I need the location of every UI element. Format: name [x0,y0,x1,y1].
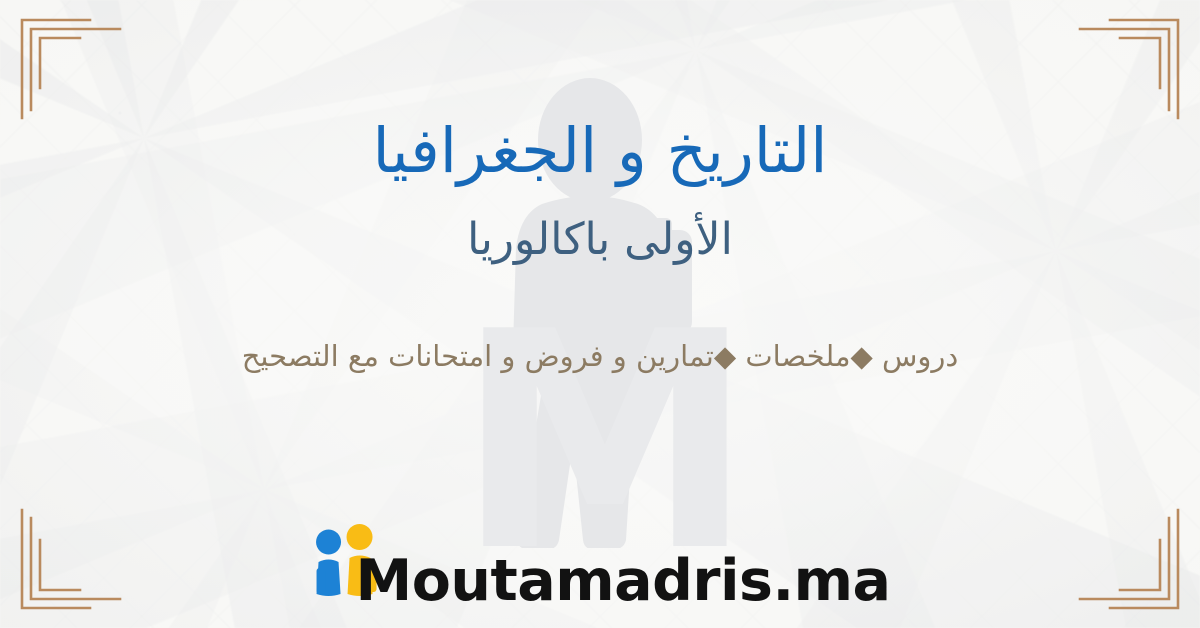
poster-canvas: M [0,0,1200,628]
logo-brand-text: Moutamadris.ma [356,553,891,610]
page-subtitle: الأولى باكالوريا [467,185,733,266]
features-line: دروس ◆ملخصات ◆تمارين و فروض و امتحانات م… [242,266,959,376]
page-title: التاريخ و الجغرافيا [373,0,828,185]
site-logo[interactable]: Moutamadris.ma [310,524,891,610]
